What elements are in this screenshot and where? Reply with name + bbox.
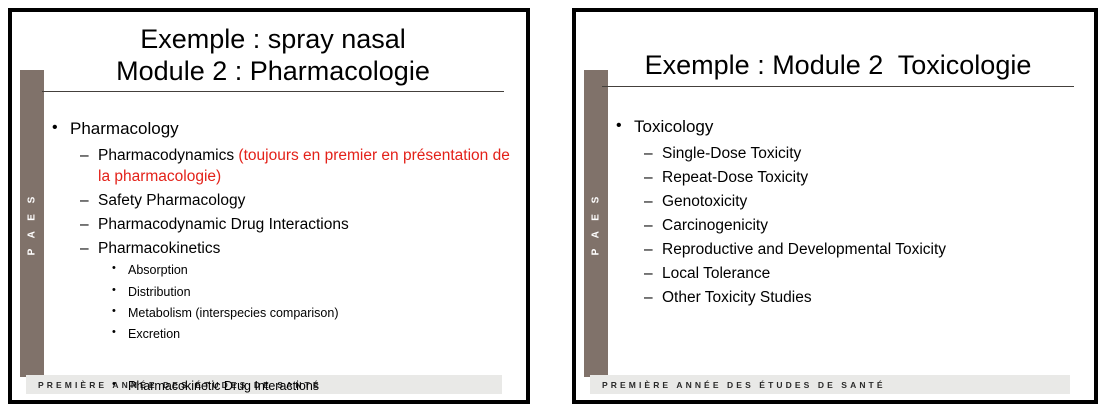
bullet-level2: Pharmacodynamics (toujours en premier en… <box>46 145 512 187</box>
bullet-level2: Genotoxicity <box>610 191 1080 212</box>
slide-deck: P A E S Exemple : spray nasal Module 2 :… <box>0 0 1107 419</box>
slide-title: Exemple : spray nasal Module 2 : Pharmac… <box>42 24 504 92</box>
slide-body: Pharmacology Pharmacodynamics (toujours … <box>46 118 512 347</box>
bullet-level2: Reproductive and Developmental Toxicity <box>610 239 1080 260</box>
sidebar-paes-label: P A E S <box>27 192 38 255</box>
slide-title-line-1: Exemple : spray nasal <box>42 24 504 56</box>
sidebar-accent-bar: P A E S <box>20 70 44 377</box>
bullet-text-black: Pharmacodynamics <box>98 147 238 164</box>
slide-pharmacologie[interactable]: P A E S Exemple : spray nasal Module 2 :… <box>8 8 530 404</box>
bullet-level1: Toxicology <box>610 116 1080 139</box>
title-divider <box>602 86 1074 87</box>
bullet-level3: Distribution <box>46 284 512 300</box>
sidebar-paes-label: P A E S <box>591 192 602 255</box>
slide-footer-bar: PREMIÈRE ANNÉE DES ÉTUDES DE SANTÉ <box>590 375 1070 394</box>
footer-label: PREMIÈRE ANNÉE DES ÉTUDES DE SANTÉ <box>602 380 886 390</box>
overflow-bullet-level3: Pharmacokinetic Drug Interactions <box>46 379 319 393</box>
sidebar-accent-bar: P A E S <box>584 70 608 377</box>
bullet-level2: Pharmacodynamic Drug Interactions <box>46 214 512 235</box>
slide-title: Exemple : Module 2 Toxicologie <box>602 50 1074 87</box>
bullet-level3: Excretion <box>46 326 512 342</box>
bullet-level2: Single-Dose Toxicity <box>610 143 1080 164</box>
bullet-level3: Absorption <box>46 262 512 278</box>
slide-title-line-2: Module 2 : Pharmacologie <box>42 56 504 88</box>
bullet-level2: Carcinogenicity <box>610 215 1080 236</box>
slide-toxicologie[interactable]: P A E S Exemple : Module 2 Toxicologie T… <box>572 8 1098 404</box>
bullet-level2: Other Toxicity Studies <box>610 287 1080 308</box>
bullet-level2: Repeat-Dose Toxicity <box>610 167 1080 188</box>
bullet-level3: Metabolism (interspecies comparison) <box>46 305 512 321</box>
bullet-level2: Local Tolerance <box>610 263 1080 284</box>
slide-body: Toxicology Single-Dose Toxicity Repeat-D… <box>610 116 1080 311</box>
bullet-level1: Pharmacology <box>46 118 512 141</box>
bullet-level2: Safety Pharmacology <box>46 190 512 211</box>
bullet-level2: Pharmacokinetics <box>46 238 512 259</box>
slide-title-line-1: Exemple : Module 2 Toxicologie <box>602 50 1074 82</box>
title-divider <box>42 91 504 92</box>
